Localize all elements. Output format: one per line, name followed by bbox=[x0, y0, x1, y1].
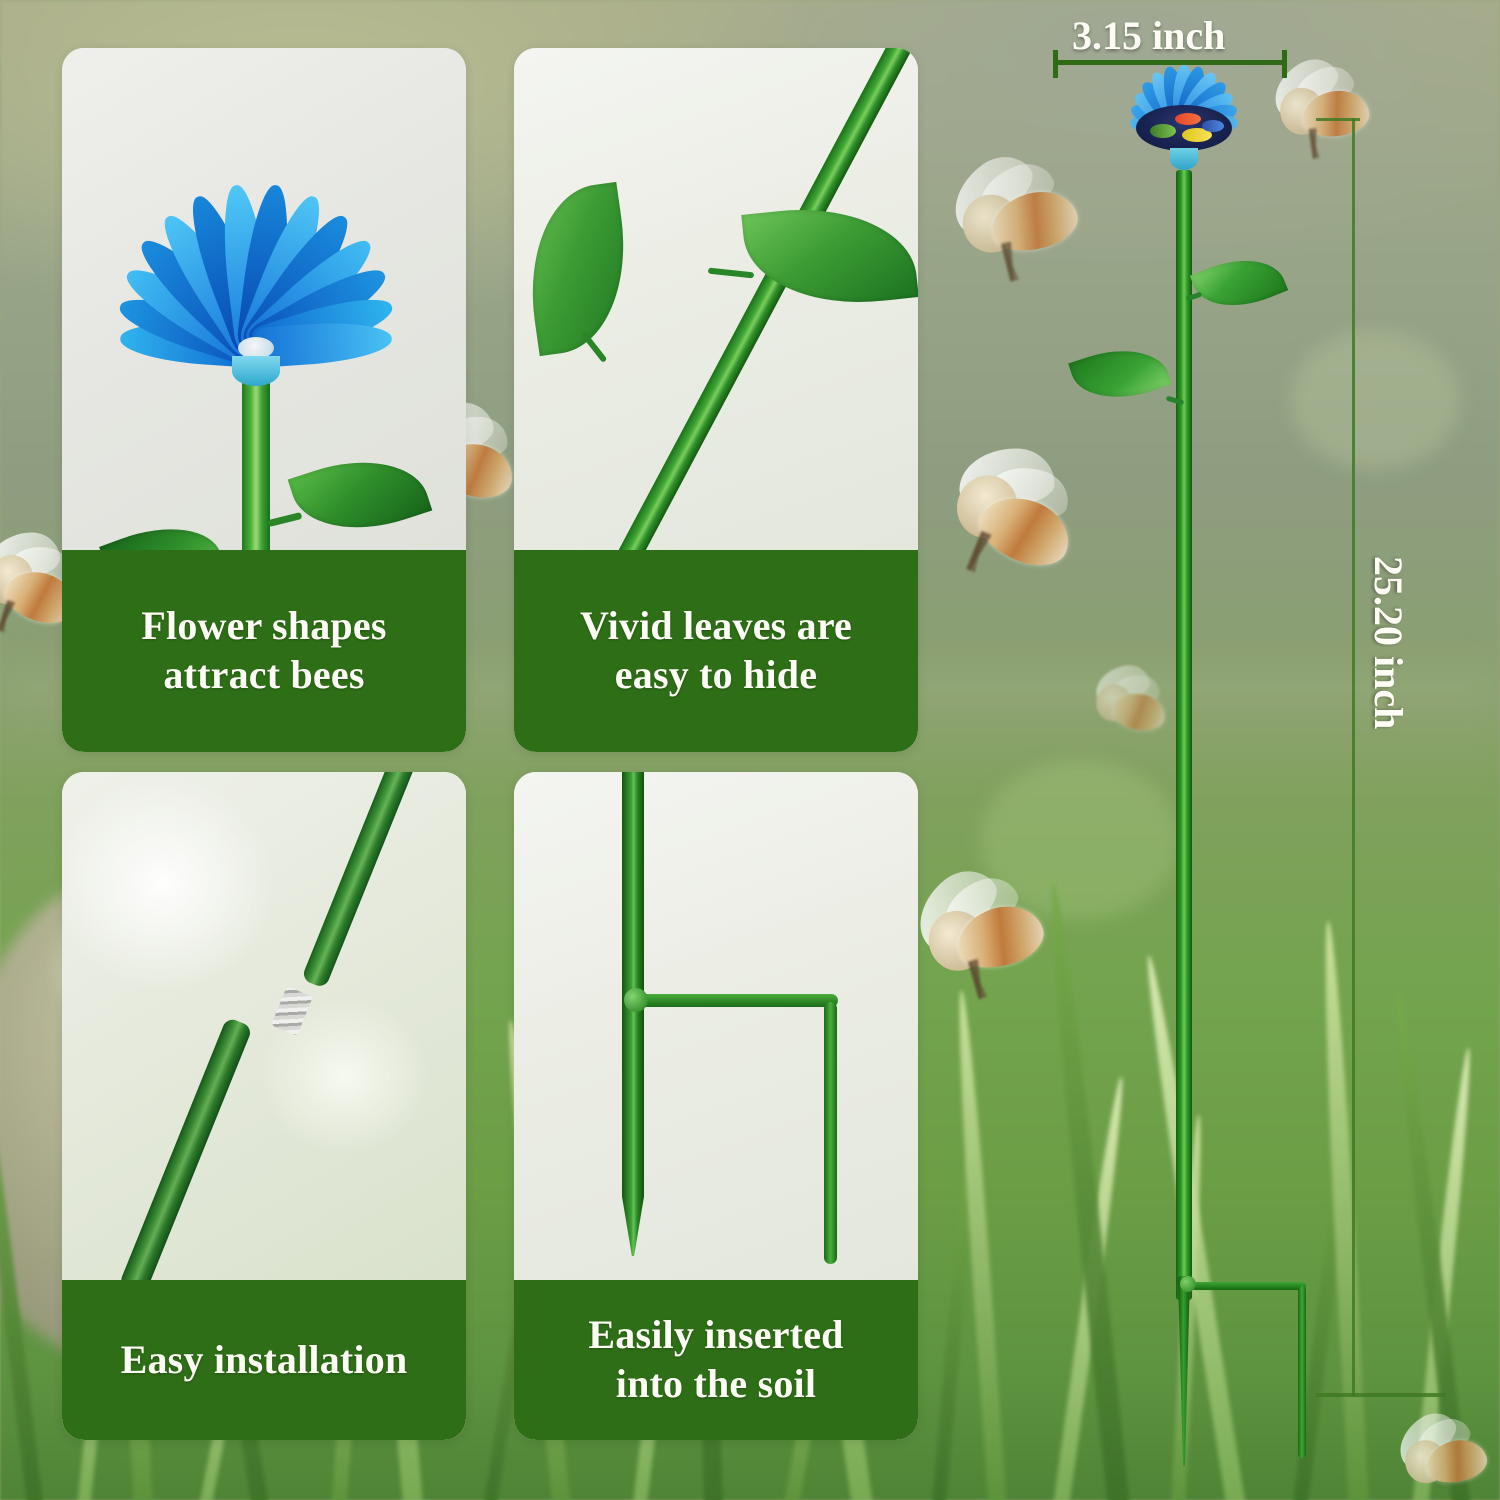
dimension-width-label: 3.15 inch bbox=[1072, 12, 1225, 59]
dimension-width-cap-right bbox=[1282, 50, 1287, 78]
caption-line: Easily inserted bbox=[588, 1311, 843, 1360]
marble-green bbox=[1150, 124, 1176, 138]
feature-caption-flower-shapes: Flower shapes attract bees bbox=[62, 550, 466, 752]
photo-flower-collar bbox=[232, 356, 280, 386]
dimension-height-label: 25.20 inch bbox=[1365, 556, 1412, 729]
product-stake-cross-arm bbox=[1188, 1282, 1306, 1290]
caption-line: easy to hide bbox=[580, 651, 852, 700]
product-infographic: 3.15 inch 25.20 inch bbox=[0, 0, 1500, 1500]
feature-card-easy-installation[interactable]: Easy installation bbox=[62, 772, 466, 1440]
dimension-height-cap-top bbox=[1316, 118, 1360, 121]
feature-photo-leaves bbox=[514, 48, 918, 550]
feature-photo-stake bbox=[514, 772, 918, 1280]
feature-caption-easily-inserted: Easily inserted into the soil bbox=[514, 1280, 918, 1440]
caption-line: Easy installation bbox=[121, 1336, 408, 1385]
photo-stake-joint-knob bbox=[624, 988, 648, 1012]
marble-blue bbox=[1202, 120, 1224, 132]
dimension-width-line bbox=[1053, 60, 1287, 65]
bee-top-right-corner bbox=[1266, 62, 1393, 167]
feature-photo-flower bbox=[62, 48, 466, 550]
feature-caption-easy-installation: Easy installation bbox=[62, 1280, 466, 1440]
dimension-width-cap-left bbox=[1053, 50, 1058, 78]
caption-line: attract bees bbox=[141, 651, 386, 700]
photo-stake-side-leg bbox=[824, 1002, 837, 1264]
caption-line: into the soil bbox=[588, 1360, 843, 1409]
dimension-height-line bbox=[1352, 118, 1355, 1396]
product-main-stem bbox=[1176, 170, 1192, 1300]
dimension-height-cap-bottom bbox=[1316, 1393, 1446, 1397]
caption-line: Vivid leaves are bbox=[580, 602, 852, 651]
product-stake-side-leg bbox=[1298, 1286, 1306, 1458]
photo-stake-spike bbox=[622, 772, 644, 1256]
feature-card-flower-shapes[interactable]: Flower shapes attract bees bbox=[62, 48, 466, 752]
feature-card-easily-inserted[interactable]: Easily inserted into the soil bbox=[514, 772, 918, 1440]
bokeh-3 bbox=[1290, 330, 1460, 470]
flower-collar bbox=[1170, 148, 1198, 170]
marble-red bbox=[1175, 113, 1201, 125]
photo-stake-cross-arm bbox=[638, 994, 838, 1007]
feature-card-vivid-leaves[interactable]: Vivid leaves are easy to hide bbox=[514, 48, 918, 752]
product-stake-joint-knob bbox=[1180, 1276, 1196, 1292]
feature-caption-vivid-leaves: Vivid leaves are easy to hide bbox=[514, 550, 918, 752]
feature-photo-installation bbox=[62, 772, 466, 1280]
caption-line: Flower shapes bbox=[141, 602, 386, 651]
